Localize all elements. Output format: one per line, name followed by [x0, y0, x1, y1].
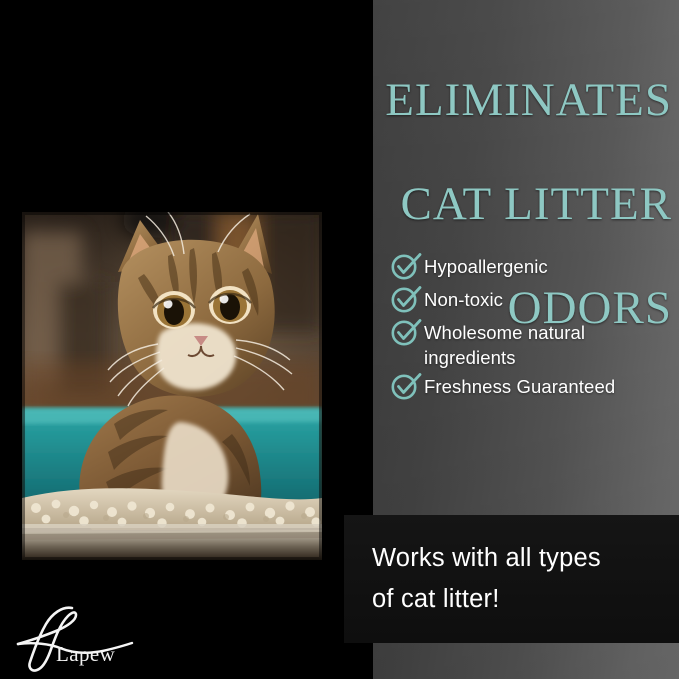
- check-circle-icon: [390, 317, 424, 347]
- ad-creative-canvas: ELIMINATES CAT LITTER ODORS: [0, 0, 679, 679]
- callout-line-1: Works with all types: [372, 538, 679, 579]
- list-item-label: Non-toxic: [424, 285, 503, 312]
- list-item-label: Wholesome natural ingredients: [424, 318, 670, 370]
- headline-line-2: CAT LITTER: [180, 178, 672, 230]
- check-circle-icon: [390, 251, 424, 281]
- check-circle-icon: [390, 371, 424, 401]
- list-item: Non-toxic: [390, 285, 670, 316]
- headline-line-1: ELIMINATES: [180, 74, 672, 126]
- list-item: Hypoallergenic: [390, 252, 670, 283]
- check-circle-icon: [390, 284, 424, 314]
- brand-wordmark: Lapew: [56, 643, 115, 665]
- brand-logo: Lapew: [10, 600, 170, 675]
- list-item: Wholesome natural ingredients: [390, 318, 670, 370]
- callout-banner: Works with all types of cat litter!: [344, 515, 679, 643]
- list-item-label: Hypoallergenic: [424, 252, 548, 279]
- list-item-label: Freshness Guaranteed: [424, 372, 615, 399]
- list-item: Freshness Guaranteed: [390, 372, 670, 403]
- feature-list: Hypoallergenic Non-toxic Wholesome natur…: [390, 252, 670, 405]
- callout-line-2: of cat litter!: [372, 579, 679, 620]
